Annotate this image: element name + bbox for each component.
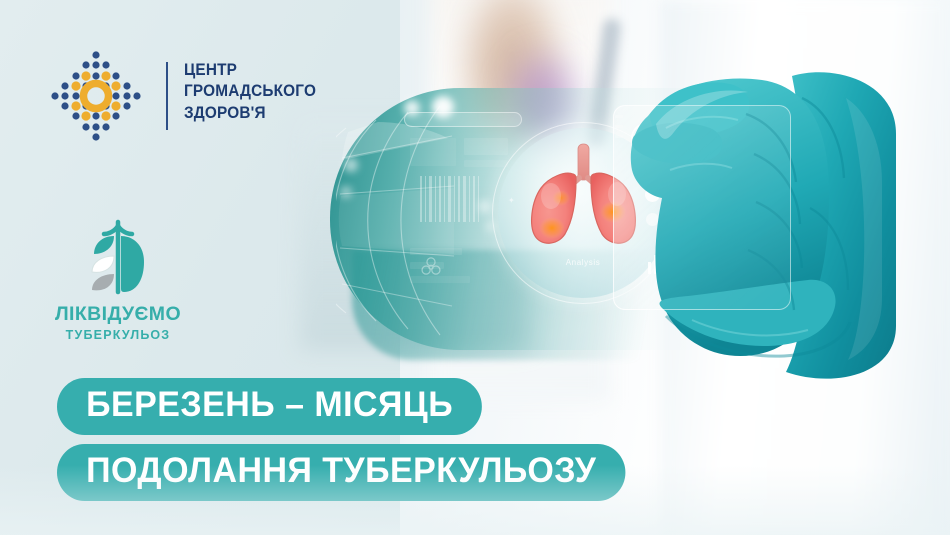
barcode-graphic [420, 176, 482, 222]
logo-line-3: ЗДОРОВ'Я [184, 103, 316, 124]
sparkle-icon: ✦ [508, 196, 515, 205]
logo-divider [166, 62, 168, 130]
gloved-hand [596, 58, 896, 388]
tb-logo-line-1: ЛІКВІДУЄМО [38, 303, 198, 326]
headline-pill-2: ПОДОЛАННЯ ТУБЕРКУЛЬОЗУ [57, 444, 625, 501]
ui-bar [464, 160, 508, 167]
public-health-center-logo: ЦЕНТР ГРОМАДСЬКОГО ЗДОРОВ'Я [48, 46, 298, 146]
headline-block: БЕРЕЗЕНЬ – МІСЯЦЬ ПОДОЛАННЯ ТУБЕРКУЛЬОЗУ [57, 378, 643, 501]
dotted-sun-diamond-icon [48, 48, 144, 144]
logo-line-1: ЦЕНТР [184, 60, 316, 81]
ui-bar [410, 138, 456, 166]
ui-bar [464, 138, 508, 155]
status-pill [404, 112, 522, 127]
bokeh-dot [340, 186, 352, 198]
biohazard-icon [418, 253, 444, 284]
eliminate-tuberculosis-logo: ЛІКВІДУЄМО ТУБЕРКУЛЬОЗ [38, 218, 198, 350]
lungs-leaf-icon [38, 218, 198, 298]
tb-logo-line-2: ТУБЕРКУЛЬОЗ [38, 328, 198, 342]
headline-pill-1: БЕРЕЗЕНЬ – МІСЯЦЬ [57, 378, 482, 435]
logo-line-2: ГРОМАДСЬКОГО [184, 81, 316, 102]
logo-wordmark: ЦЕНТР ГРОМАДСЬКОГО ЗДОРОВ'Я [184, 60, 316, 124]
bokeh-dot [344, 158, 358, 172]
poster-root: ✦ ✦ Analysis [0, 0, 950, 535]
